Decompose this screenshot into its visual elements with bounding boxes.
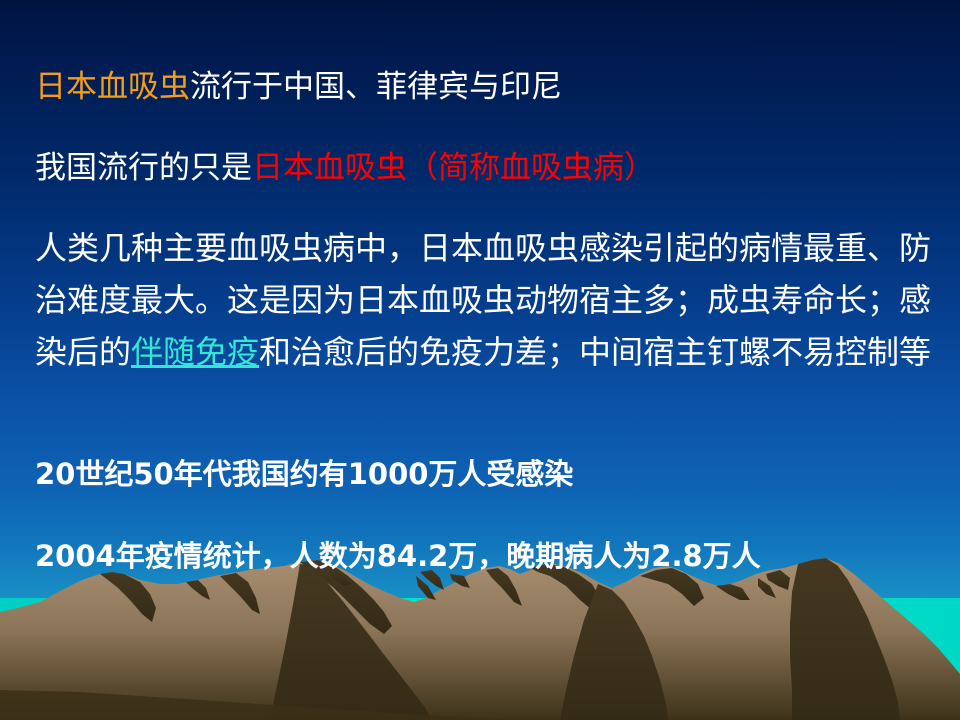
presentation-slide: 日本血吸虫流行于中国、菲律宾与印尼 我国流行的只是日本血吸虫（简称血吸虫病） 人… [0,0,960,720]
line2-prefix: 我国流行的只是 [35,150,252,186]
slide-line-4: 20世纪50年代我国约有1000万人受感染 [0,454,591,494]
line1-rest: 流行于中国、菲律宾与印尼 [190,69,562,105]
slide-line-2: 我国流行的只是日本血吸虫（简称血吸虫病） [0,148,673,188]
line2-red: 日本血吸虫（简称血吸虫病） [252,150,655,186]
paragraph-hyperlink[interactable]: 伴随免疫 [131,333,259,371]
slide-line-5: 2004年疫情统计，人数为84.2万，晚期病人为2.8万人 [0,536,779,576]
slide-paragraph: 人类几种主要血吸虫病中，日本血吸虫感染引起的病情最重、防治难度最大。这是因为日本… [0,222,960,378]
slide-line-1: 日本血吸虫流行于中国、菲律宾与印尼 [0,67,580,107]
line1-highlight: 日本血吸虫 [35,69,190,105]
paragraph-part-2: 和治愈后的免疫力差；中间宿主钉螺不易控制等 [259,333,931,371]
